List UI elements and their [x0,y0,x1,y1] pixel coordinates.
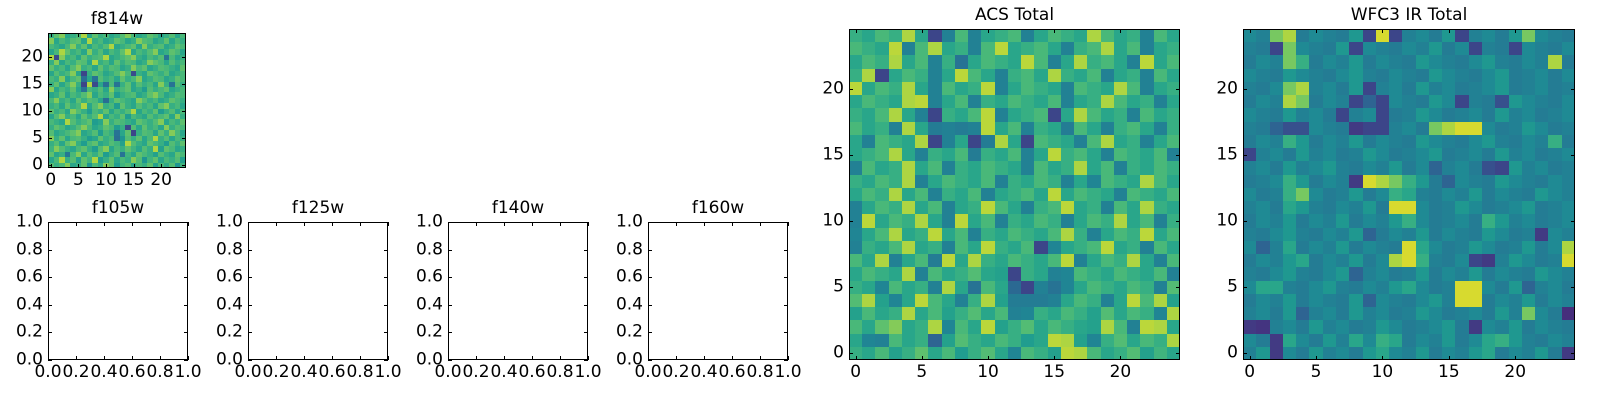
ytick [48,250,52,251]
ytick-right [1176,287,1180,288]
yticklabel: 0.8 [416,241,443,258]
xticklabel: 0.4 [290,364,317,381]
yticklabel: 0.8 [16,241,43,258]
xticklabel: 0.4 [690,364,717,381]
xticklabel: 0 [850,364,861,381]
ytick [448,360,452,361]
xtick-top [1382,29,1383,33]
yticklabel: 0.6 [416,269,443,286]
ytick-right [784,360,788,361]
xtick-top [78,33,79,37]
ytick [1243,155,1247,156]
axes-f814w: f814w0510152005101520 [48,33,186,168]
xticklabel: 15 [1438,364,1460,381]
xtick-top [988,29,989,33]
ytick [48,222,52,223]
ytick-right [384,305,388,306]
xtick [1449,356,1450,360]
axes-frame [648,222,788,360]
xtick-top [188,222,189,226]
xticklabel: 0 [45,172,56,189]
xtick [760,356,761,360]
yticklabel: 0.6 [616,269,643,286]
xticklabel: 5 [73,172,84,189]
ytick-right [184,360,188,361]
ytick [648,250,652,251]
ytick-right [584,222,588,223]
xtick-top [76,222,77,226]
yticklabel: 0.2 [616,324,643,341]
ytick-right [182,84,186,85]
axes-frame [248,222,388,360]
yticklabel: 10 [21,103,43,120]
ytick [1243,353,1247,354]
xtick [704,356,705,360]
xtick [388,356,389,360]
xtick [1120,356,1121,360]
xtick [788,356,789,360]
xticklabel: 20 [1110,364,1132,381]
xticklabel: 0 [1244,364,1255,381]
yticklabel: 0.4 [416,296,443,313]
xticklabel: 0.6 [718,364,745,381]
xticklabel: 0.8 [546,364,573,381]
ytick-right [182,57,186,58]
ytick-right [384,332,388,333]
axes-title-wfc3-ir-total: WFC3 IR Total [1351,7,1468,24]
xtick-top [134,33,135,37]
yticklabel: 15 [822,146,844,163]
xticklabel: 10 [95,172,117,189]
xticklabel: 10 [1372,364,1394,381]
xtick-top [560,222,561,226]
xticklabel: 5 [1311,364,1322,381]
yticklabel: 0.6 [216,269,243,286]
xtick-top [1054,29,1055,33]
axes-title-f814w: f814w [91,11,143,28]
xtick [1515,356,1516,360]
xtick-top [160,222,161,226]
yticklabel: 0.8 [616,241,643,258]
xtick-top [51,33,52,37]
xtick [134,164,135,168]
xticklabel: 0.2 [662,364,689,381]
ytick-right [584,332,588,333]
yticklabel: 20 [1216,80,1238,97]
axes-f105w: f105w0.00.20.40.60.81.00.00.20.40.60.81.… [48,222,188,360]
xtick [504,356,505,360]
xtick-top [132,222,133,226]
yticklabel: 0.4 [216,296,243,313]
xticklabel: 1.0 [374,364,401,381]
xticklabel: 0.8 [746,364,773,381]
xticklabel: 0.6 [518,364,545,381]
xticklabel: 0.8 [146,364,173,381]
ytick-right [184,222,188,223]
yticklabel: 0.2 [16,324,43,341]
ytick-right [184,305,188,306]
ytick [48,138,52,139]
ytick [448,332,452,333]
ytick-right [184,277,188,278]
ytick-right [384,360,388,361]
xtick [676,356,677,360]
yticklabel: 20 [21,49,43,66]
axes-f125w: f125w0.00.20.40.60.81.00.00.20.40.60.81.… [248,222,388,360]
ytick [448,277,452,278]
xticklabel: 1.0 [174,364,201,381]
ytick [48,165,52,166]
ytick [48,305,52,306]
yticklabel: 15 [1216,146,1238,163]
ytick-right [584,360,588,361]
ytick-right [1571,221,1575,222]
xtick [1316,356,1317,360]
ytick [248,360,252,361]
ytick [48,332,52,333]
ytick-right [784,332,788,333]
ytick-right [1571,89,1575,90]
axes-frame [448,222,588,360]
xtick [106,164,107,168]
xtick-top [104,222,105,226]
xtick [76,356,77,360]
yticklabel: 1.0 [416,214,443,231]
ytick [48,57,52,58]
yticklabel: 5 [833,279,844,296]
axes-f140w: f140w0.00.20.40.60.81.00.00.20.40.60.81.… [448,222,588,360]
xtick [1250,356,1251,360]
xtick-top [504,222,505,226]
ytick [248,332,252,333]
axes-title-f105w: f105w [92,200,144,217]
xtick [188,356,189,360]
xticklabel: 15 [1043,364,1065,381]
xticklabel: 20 [150,172,172,189]
yticklabel: 0.0 [216,352,243,369]
xtick-top [388,222,389,226]
xticklabel: 0.6 [318,364,345,381]
xticklabel: 0.4 [90,364,117,381]
xtick-top [304,222,305,226]
axes-title-f140w: f140w [492,200,544,217]
xtick-top [106,33,107,37]
yticklabel: 10 [822,212,844,229]
ytick [849,155,853,156]
axes-title-f160w: f160w [692,200,744,217]
axes-acs-total: ACS Total0510152005101520 [849,29,1180,360]
yticklabel: 0.0 [16,352,43,369]
xticklabel: 5 [916,364,927,381]
ytick-right [784,277,788,278]
ytick [849,353,853,354]
yticklabel: 20 [822,80,844,97]
yticklabel: 10 [1216,212,1238,229]
xtick-top [276,222,277,226]
xtick-top [788,222,789,226]
xticklabel: 0.2 [62,364,89,381]
xticklabel: 0.2 [262,364,289,381]
xticklabel: 15 [123,172,145,189]
ytick [48,84,52,85]
xtick-top [856,29,857,33]
xtick-top [588,222,589,226]
xtick-top [732,222,733,226]
ytick-right [1571,353,1575,354]
xticklabel: 1.0 [774,364,801,381]
ytick-right [1176,89,1180,90]
ytick-right [1176,155,1180,156]
xticklabel: 1.0 [574,364,601,381]
xtick [276,356,277,360]
ytick-right [584,250,588,251]
yticklabel: 0.4 [16,296,43,313]
ytick-right [1571,155,1575,156]
yticklabel: 0.2 [216,324,243,341]
ytick-right [1176,221,1180,222]
xticklabel: 0.6 [118,364,145,381]
xtick [160,356,161,360]
xtick [132,356,133,360]
ytick-right [184,250,188,251]
yticklabel: 1.0 [616,214,643,231]
xtick-top [532,222,533,226]
matplotlib-figure: f814w0510152005101520f105w0.00.20.40.60.… [0,0,1600,400]
ytick-right [784,250,788,251]
heatmap-image-wfc3-ir-total [1243,29,1575,360]
ytick [1243,221,1247,222]
yticklabel: 0.8 [216,241,243,258]
xtick [304,356,305,360]
xtick [532,356,533,360]
ytick [448,305,452,306]
xtick [588,356,589,360]
ytick-right [584,277,588,278]
yticklabel: 0.6 [16,269,43,286]
ytick-right [184,332,188,333]
xtick [922,356,923,360]
xtick [360,356,361,360]
xtick-top [704,222,705,226]
xtick-top [760,222,761,226]
ytick [248,222,252,223]
xtick [732,356,733,360]
xtick-top [360,222,361,226]
ytick-right [1176,353,1180,354]
ytick-right [1571,287,1575,288]
ytick-right [584,305,588,306]
ytick [248,305,252,306]
xtick-top [332,222,333,226]
ytick [849,221,853,222]
yticklabel: 15 [21,76,43,93]
heatmap-image-acs-total [849,29,1180,360]
xticklabel: 10 [977,364,999,381]
xtick-top [476,222,477,226]
ytick [448,250,452,251]
ytick [849,89,853,90]
ytick [648,305,652,306]
axes-wfc3-ir-total: WFC3 IR Total0510152005101520 [1243,29,1575,360]
heatmap-image-f814w [48,33,186,168]
xtick-top [676,222,677,226]
ytick [849,287,853,288]
yticklabel: 5 [1227,279,1238,296]
xtick [560,356,561,360]
yticklabel: 0.0 [416,352,443,369]
ytick [648,360,652,361]
xtick-top [1120,29,1121,33]
xticklabel: 20 [1504,364,1526,381]
xticklabel: 0.4 [490,364,517,381]
yticklabel: 0.4 [616,296,643,313]
ytick [648,332,652,333]
yticklabel: 0.2 [416,324,443,341]
yticklabel: 5 [32,130,43,147]
axes-title-acs-total: ACS Total [975,7,1054,24]
xtick [476,356,477,360]
xtick-top [1515,29,1516,33]
xticklabel: 0.8 [346,364,373,381]
ytick-right [384,277,388,278]
xtick [856,356,857,360]
yticklabel: 0.0 [616,352,643,369]
axes-frame [48,222,188,360]
ytick [48,111,52,112]
ytick-right [182,138,186,139]
xtick [988,356,989,360]
axes-title-f125w: f125w [292,200,344,217]
ytick [1243,89,1247,90]
ytick [648,222,652,223]
xtick [1382,356,1383,360]
ytick-right [384,222,388,223]
xtick [332,356,333,360]
xtick [104,356,105,360]
ytick-right [784,222,788,223]
ytick [1243,287,1247,288]
ytick-right [182,165,186,166]
yticklabel: 1.0 [16,214,43,231]
ytick [248,250,252,251]
yticklabel: 1.0 [216,214,243,231]
xtick [1054,356,1055,360]
yticklabel: 0 [32,157,43,174]
xtick-top [1449,29,1450,33]
ytick [448,222,452,223]
xtick-top [1316,29,1317,33]
ytick [48,360,52,361]
xtick-top [161,33,162,37]
xtick-top [1250,29,1251,33]
xtick [161,164,162,168]
ytick-right [182,111,186,112]
xtick-top [922,29,923,33]
axes-f160w: f160w0.00.20.40.60.81.00.00.20.40.60.81.… [648,222,788,360]
yticklabel: 0 [833,345,844,362]
ytick-right [784,305,788,306]
xticklabel: 0.2 [462,364,489,381]
ytick [248,277,252,278]
ytick [48,277,52,278]
ytick [648,277,652,278]
xtick [78,164,79,168]
yticklabel: 0 [1227,345,1238,362]
ytick-right [384,250,388,251]
